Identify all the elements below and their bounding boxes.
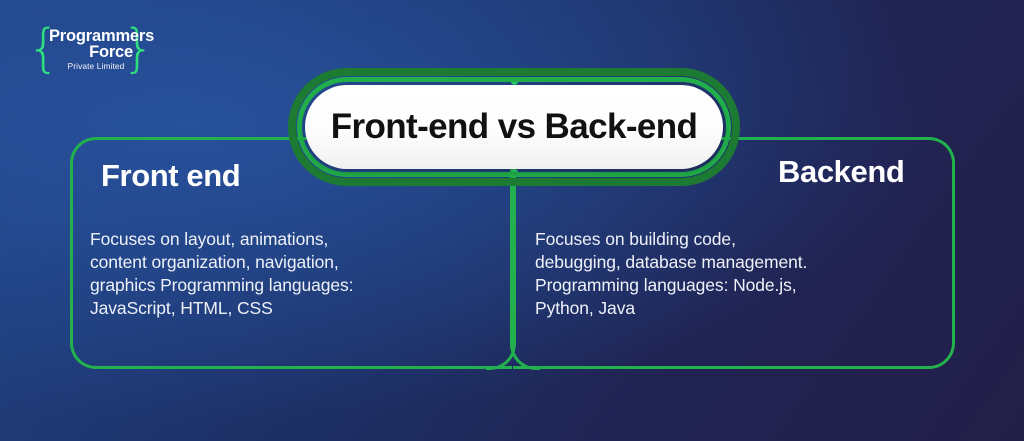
title-pill: Front-end vs Back-end	[305, 85, 723, 169]
heading-backend: Backend	[778, 154, 904, 190]
page-title: Front-end vs Back-end	[331, 107, 698, 147]
brand-tagline: Private Limited	[47, 61, 135, 72]
body-backend: Focuses on building code, debugging, dat…	[535, 228, 945, 320]
title-badge: Front-end vs Back-end	[288, 68, 740, 186]
body-front-end: Focuses on layout, animations, content o…	[90, 228, 490, 320]
infographic-canvas: { } Programmers Force Private Limited Fr…	[0, 0, 1024, 441]
heading-front-end: Front end	[101, 158, 240, 194]
brand-name-line2: Force	[47, 44, 135, 61]
brand-name-line1: Programmers	[47, 28, 135, 44]
brand-wordmark: Programmers Force Private Limited	[47, 28, 135, 72]
brand-logo: { } Programmers Force Private Limited	[27, 24, 155, 76]
